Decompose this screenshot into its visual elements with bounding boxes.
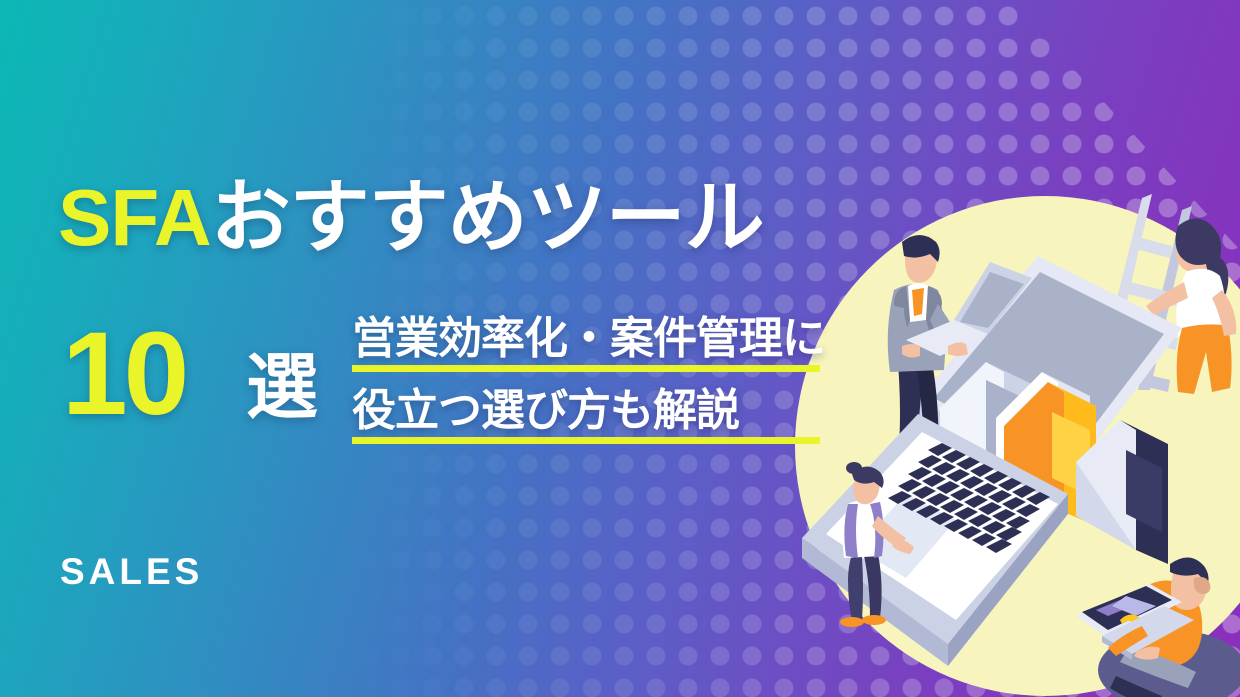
page-title: SFAおすすめツール — [58, 178, 764, 258]
subtitle-line-1-text: 営業効率化・案件管理に — [352, 317, 825, 361]
banner-canvas: SFAおすすめツール 10 選 営業効率化・案件管理に 役立つ選び方も解説 SA… — [0, 0, 1240, 697]
title-rest: おすすめツール — [211, 173, 764, 262]
subtitle-line-2: 役立つ選び方も解説 — [352, 389, 820, 444]
title-highlight: SFA — [58, 173, 211, 262]
headline-text-block: SFAおすすめツール 10 選 営業効率化・案件管理に 役立つ選び方も解説 SA… — [0, 0, 880, 697]
subtitle-underline-2 — [352, 437, 820, 444]
count-unit: 選 — [246, 352, 318, 424]
brand-label: SALES — [60, 553, 203, 590]
subtitle-line-2-text: 役立つ選び方も解説 — [352, 389, 820, 433]
subtitle-underline-1 — [352, 365, 820, 372]
subtitle-line-1: 営業効率化・案件管理に — [352, 317, 825, 372]
count-number: 10 — [62, 315, 185, 433]
seated-man-with-laptop — [1076, 557, 1240, 697]
